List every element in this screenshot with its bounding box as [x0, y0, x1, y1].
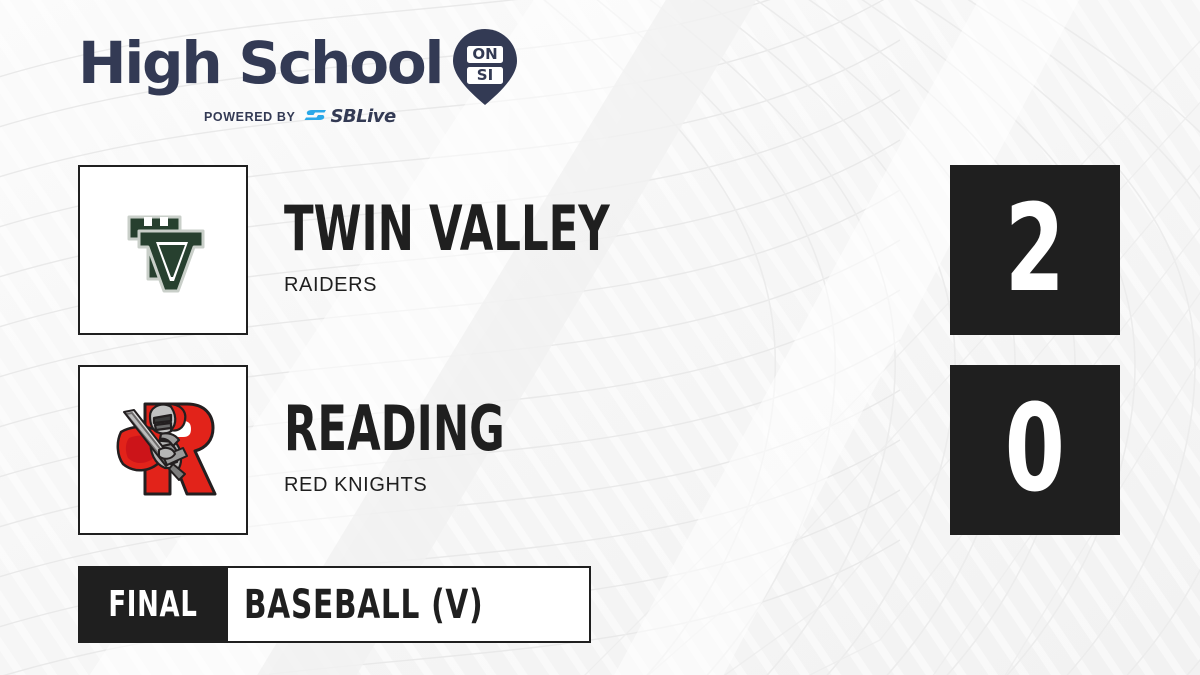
team-text-block: TWIN VALLEY RAIDERS: [284, 165, 904, 297]
svg-text:SI: SI: [477, 66, 493, 84]
sblive-wordmark: SBLive: [330, 108, 395, 126]
sblive-logo: SBLive: [304, 108, 395, 126]
team-name: TWIN VALLEY: [284, 197, 718, 261]
powered-by-row: POWERED BY SBLive: [204, 108, 508, 126]
status-badge: FINAL: [78, 566, 228, 643]
team-text-block: READING RED KNIGHTS: [284, 365, 904, 497]
status-state-label: FINAL: [108, 586, 197, 624]
twin-valley-tv-logo-icon: [108, 195, 218, 305]
team-score-box: 0: [950, 365, 1120, 535]
on-si-pin-icon: ON SI: [452, 28, 518, 106]
sblive-s-mark: [304, 108, 328, 126]
team-logo-box: [78, 365, 248, 535]
sport-label-box: BASEBALL (V): [228, 566, 591, 643]
team-mascot: RAIDERS: [284, 273, 904, 297]
team-name: READING: [284, 397, 718, 461]
brand-lockup: High School ON SI POWERED BY: [78, 32, 508, 132]
powered-by-label: POWERED BY: [204, 110, 295, 124]
team-score-box: 2: [950, 165, 1120, 335]
team-score: 0: [1005, 390, 1065, 510]
team-score: 2: [1005, 190, 1065, 310]
reading-red-knight-logo-icon: [101, 388, 225, 512]
status-bar: FINAL BASEBALL (V): [78, 566, 591, 643]
team-mascot: RED KNIGHTS: [284, 473, 904, 497]
sport-label: BASEBALL (V): [244, 584, 483, 626]
brand-wordmark: High School: [78, 32, 442, 94]
team-logo-box: [78, 165, 248, 335]
svg-text:ON: ON: [473, 45, 498, 63]
